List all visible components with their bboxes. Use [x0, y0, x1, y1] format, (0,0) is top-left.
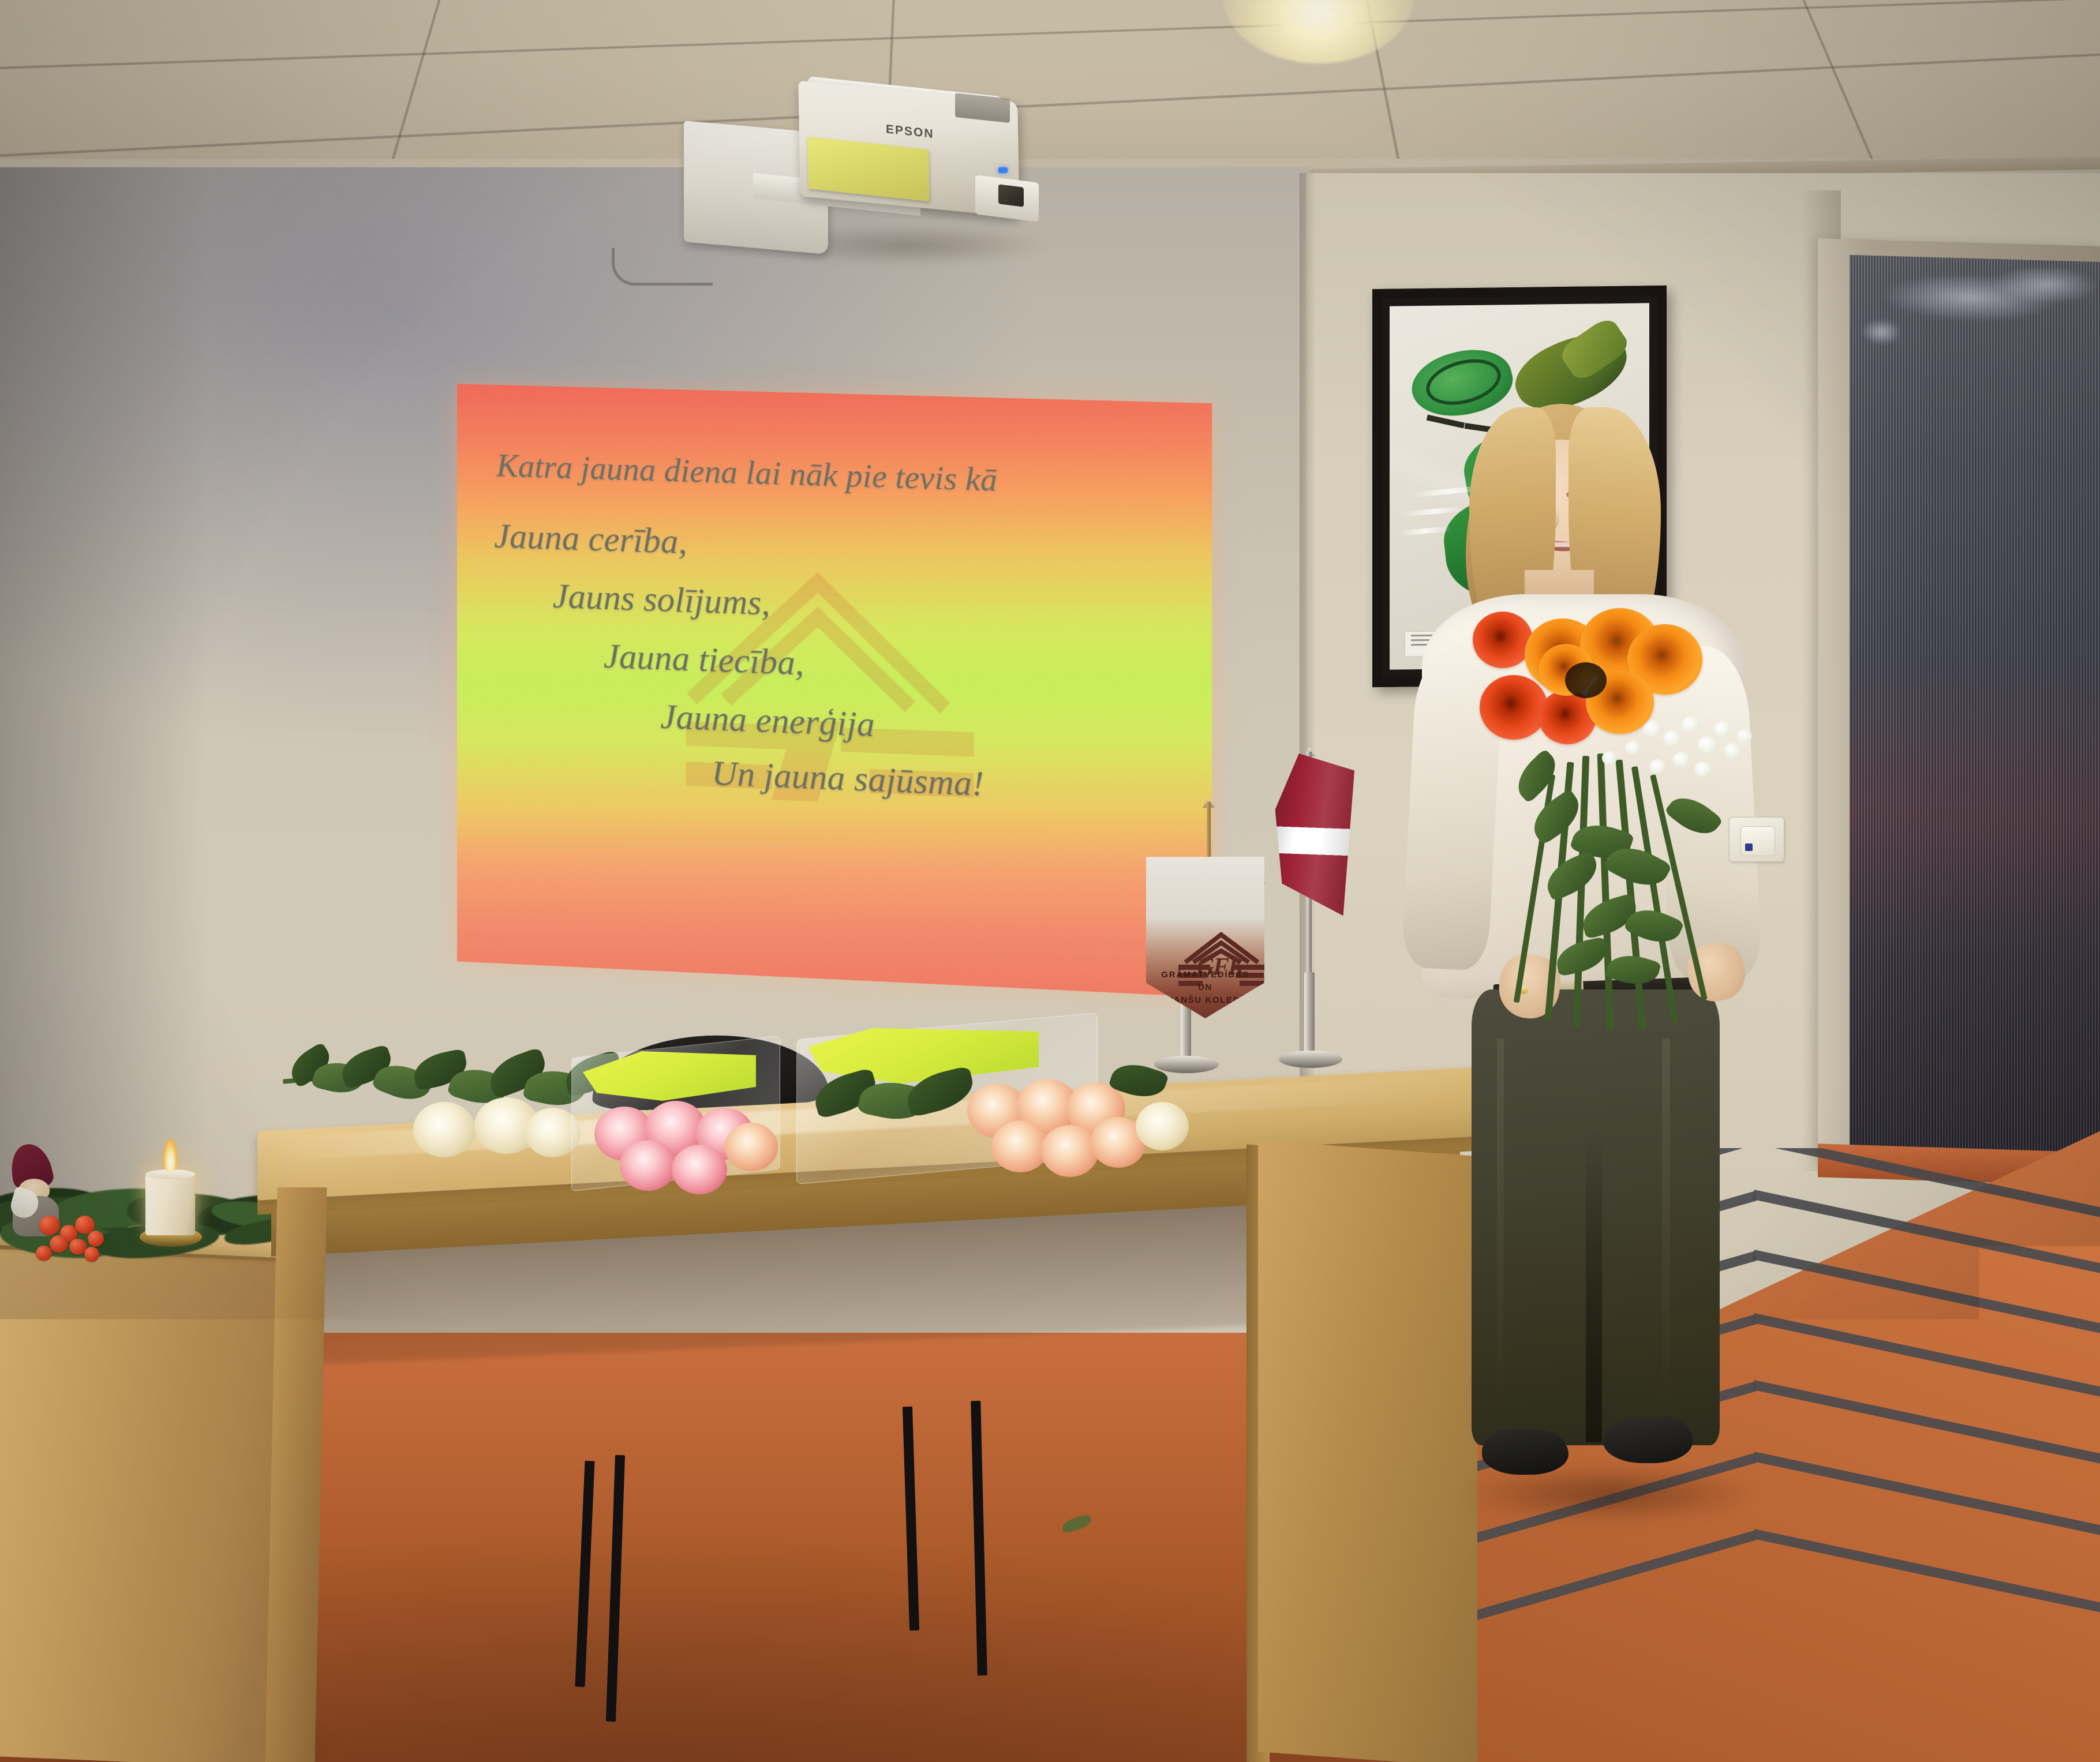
- projection-screen: [457, 384, 1212, 997]
- gerbera-red-2: [1480, 675, 1548, 740]
- pillar-candle: [145, 1173, 195, 1235]
- slide-watermark-logo: [457, 384, 1212, 997]
- side-cabinet-body: [0, 1237, 300, 1762]
- gerbera-red-1: [1473, 612, 1533, 668]
- bouquet-dark-center: [1565, 662, 1607, 698]
- shoe-left: [1482, 1430, 1569, 1475]
- rose-pink-5: [672, 1145, 727, 1194]
- pennant-cloth: GFK GRĀMATVEDĪBAS UN FINANŠU KOLEDŽA: [1146, 857, 1264, 1018]
- photo-scene: EPSON Katra jauna: [0, 0, 2100, 1762]
- pennant-line-2: UN: [1146, 983, 1264, 992]
- pennant-stand-base: [1154, 1056, 1219, 1073]
- projector-status-led: [998, 167, 1008, 173]
- latvian-desk-flag: [1251, 747, 1384, 1139]
- door-reflection-3: [1861, 318, 1901, 345]
- pennant-line-3: FINANŠU KOLEDŽA: [1146, 995, 1264, 1005]
- pennant-line-1: GRĀMATVEDĪBAS: [1146, 970, 1264, 980]
- projector-cable: [612, 248, 713, 286]
- person-shadow: [1460, 1465, 1760, 1523]
- flag-cloth-shading: [1271, 753, 1355, 923]
- ceiling-tile-grid: [0, 0, 2100, 159]
- rose-peach-5: [991, 1120, 1049, 1172]
- flag-stand-base: [1279, 1051, 1342, 1068]
- rose-pink-4: [620, 1140, 676, 1191]
- rose-cream-4: [1136, 1102, 1189, 1150]
- door-reflection-2: [1994, 265, 2098, 305]
- light-switch-rocker[interactable]: [1740, 826, 1775, 856]
- bouquet-right: [791, 1015, 1218, 1206]
- rose-peach-1: [725, 1123, 778, 1171]
- rose-peach-6: [1041, 1125, 1099, 1177]
- ceiling-projector: EPSON: [684, 81, 1024, 294]
- bouquet-left: [271, 1021, 791, 1212]
- door-ribbed-glass[interactable]: [1850, 255, 2100, 1162]
- trouser-crease-right: [1662, 1039, 1670, 1408]
- shoe-right: [1603, 1417, 1693, 1463]
- trouser-inseam-shadow: [1586, 1131, 1602, 1442]
- trouser-crease-left: [1497, 1039, 1504, 1408]
- projector-lens: [998, 184, 1024, 207]
- flag-stand-stem: [1304, 972, 1315, 1056]
- rose-cream-1: [413, 1102, 476, 1157]
- light-switch-led: [1745, 843, 1753, 851]
